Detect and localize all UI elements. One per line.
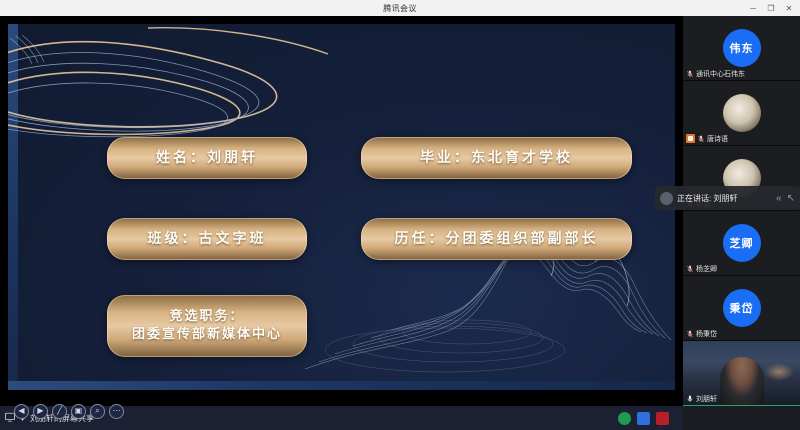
prev-slide-button[interactable]: ◀ [14, 404, 29, 419]
participant-tile-active-speaker[interactable]: 刘朋轩 [683, 341, 800, 406]
participant-name: 刘朋轩 [696, 394, 717, 404]
tray-app-wps[interactable] [656, 412, 669, 425]
participant-name: 唐诗语 [707, 134, 728, 144]
taskbar-tray [618, 406, 669, 430]
now-speaking-text: 正在讲话: 刘朋轩 [677, 193, 737, 204]
participant-rail[interactable]: 伟东 通讯中心石伟东 唐诗语 詹语 芝卿 [683, 16, 800, 406]
participant-name: 杨芝卿 [696, 264, 717, 274]
now-speaking-banner: 正在讲话: 刘朋轩 « ↖ [655, 186, 800, 210]
video-person-silhouette [720, 357, 764, 405]
participant-tile[interactable]: 伟东 通讯中心石伟东 [683, 16, 800, 81]
avatar [723, 94, 761, 132]
slide-info-class: 班级：古文字班 [107, 218, 307, 260]
slide-info-position-title: 竞选职务： [169, 308, 244, 326]
chevron-double-left-icon[interactable]: « [776, 193, 782, 204]
next-slide-button[interactable]: ▶ [33, 404, 48, 419]
arrow-up-left-icon[interactable]: ↖ [787, 193, 795, 204]
participant-tile[interactable]: 秉岱 杨秉岱 [683, 276, 800, 341]
participant-namebar: 唐诗语 [683, 132, 731, 145]
decorative-mountain-graphic [295, 154, 675, 384]
magnifier-icon[interactable]: ⌕ [90, 404, 105, 419]
participant-namebar: 杨秉岱 [683, 327, 720, 340]
participant-namebar: 杨芝卿 [683, 262, 720, 275]
close-button[interactable]: ✕ [780, 0, 798, 16]
slide-info-history-text: 历任：分团委组织部副部长 [395, 230, 599, 249]
taskbar-right-region [683, 406, 800, 430]
slide-left-accent-bar [8, 24, 18, 390]
window-controls: ─ ❐ ✕ [744, 0, 798, 16]
microphone-muted-icon [686, 330, 694, 338]
participant-namebar: 刘朋轩 [683, 392, 720, 405]
tray-app-qq[interactable] [618, 412, 631, 425]
participant-tile[interactable]: 唐诗语 [683, 81, 800, 146]
slide-info-history: 历任：分团委组织部副部长 [361, 218, 632, 260]
slide-info-school-text: 毕业：东北育才学校 [420, 149, 573, 168]
avatar: 秉岱 [723, 289, 761, 327]
shared-screen-stage: 姓名：刘朋轩 毕业：东北育才学校 班级：古文字班 历任：分团委组织部副部长 竞选… [0, 16, 683, 406]
speaker-avatar [660, 192, 673, 205]
slide-info-position: 竞选职务： 团委宣传部新媒体中心 [107, 295, 307, 357]
slide-info-position-value: 团委宣传部新媒体中心 [132, 326, 282, 344]
tray-app-meeting[interactable] [637, 412, 650, 425]
participant-tile[interactable]: 芝卿 杨芝卿 [683, 211, 800, 276]
avatar: 伟东 [723, 29, 761, 67]
microphone-icon [686, 395, 694, 403]
screen-share-annotation-toolbar: ◀ ▶ ╱ ▣ ⌕ ⋯ [14, 401, 124, 421]
slide-info-name-text: 姓名：刘朋轩 [156, 149, 258, 168]
host-badge-icon [686, 134, 695, 143]
slide-bottom-accent-bar [8, 381, 675, 390]
video-light-glow [764, 363, 794, 381]
ellipsis-icon[interactable]: ⋯ [109, 404, 124, 419]
participant-namebar: 通讯中心石伟东 [683, 67, 748, 80]
presentation-slide: 姓名：刘朋轩 毕业：东北育才学校 班级：古文字班 历任：分团委组织部副部长 竞选… [8, 24, 675, 390]
camera-icon[interactable]: ▣ [71, 404, 86, 419]
maximize-button[interactable]: ❐ [762, 0, 780, 16]
microphone-muted-icon [686, 265, 694, 273]
microphone-muted-icon [686, 70, 694, 78]
slide-info-name: 姓名：刘朋轩 [107, 137, 307, 179]
window-titlebar: 腾讯会议 ─ ❐ ✕ [0, 0, 800, 16]
slide-info-school: 毕业：东北育才学校 [361, 137, 632, 179]
speaker-nav: « ↖ [776, 193, 795, 204]
window-title: 腾讯会议 [383, 3, 417, 14]
avatar: 芝卿 [723, 224, 761, 262]
participant-name: 通讯中心石伟东 [696, 69, 745, 79]
participant-name: 杨秉岱 [696, 329, 717, 339]
microphone-muted-icon [697, 135, 705, 143]
pen-icon[interactable]: ╱ [52, 404, 67, 419]
slide-info-class-text: 班级：古文字班 [148, 230, 267, 249]
minimize-button[interactable]: ─ [744, 0, 762, 16]
